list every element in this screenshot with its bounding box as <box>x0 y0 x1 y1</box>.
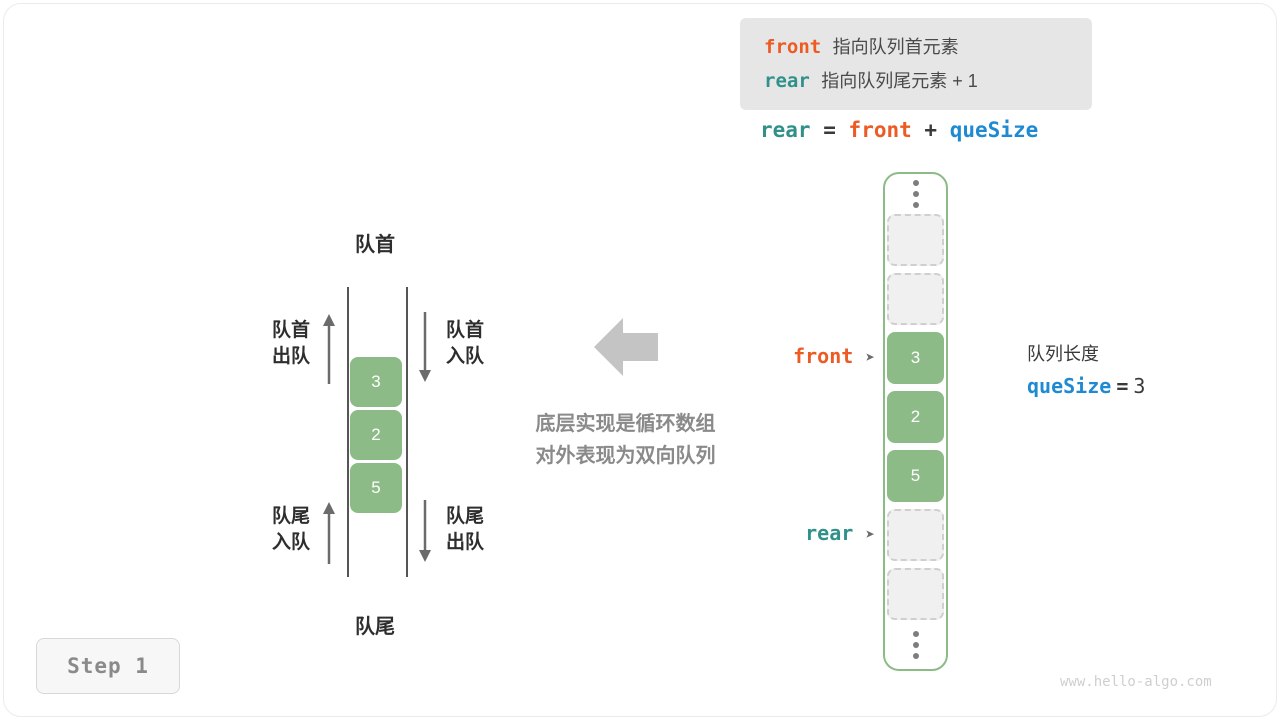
deque-rail-left <box>347 287 349 577</box>
deque-tail-enqueue-label: 队尾 入队 <box>250 504 310 556</box>
watermark: www.hello-algo.com <box>1060 674 1212 690</box>
legend-line-front: front 指向队列首元素 <box>764 30 1092 64</box>
deque-cell: 3 <box>350 357 402 407</box>
rear-pointer-label: rear <box>805 521 853 545</box>
legend-box: front 指向队列首元素 rear 指向队列尾元素 + 1 <box>740 18 1092 110</box>
front-pointer: front ➤ <box>700 344 875 368</box>
array-slot: 5 <box>887 450 944 502</box>
center-note-line1: 底层实现是循环数组 <box>498 408 753 440</box>
array-ellipsis-bottom-icon <box>905 631 927 659</box>
step-badge: Step 1 <box>36 638 180 694</box>
deque-head-label: 队首 <box>280 228 470 257</box>
deque-head-dequeue-arrow-up <box>320 312 338 384</box>
queue-size-expression: queSize = 3 <box>1027 370 1145 403</box>
queue-size-equals: = <box>1116 374 1128 398</box>
formula-rear: rear <box>760 118 811 142</box>
deque-head-enqueue-arrow-down <box>416 312 434 384</box>
deque-tail-dequeue-arrow-down <box>416 500 434 564</box>
deque-head-enqueue-line1: 队首 <box>446 318 484 344</box>
formula-rear-equals-front-plus-quesize: rear = front + queSize <box>760 118 1038 142</box>
array-slot <box>887 568 944 620</box>
legend-text-front: 指向队列首元素 <box>833 37 959 57</box>
deque-rail-right <box>406 287 408 577</box>
left-pointing-arrow-icon <box>594 318 658 376</box>
front-pointer-label: front <box>793 344 853 368</box>
formula-equals: = <box>823 118 836 142</box>
array-slot <box>887 273 944 325</box>
deque-tail-enqueue-line2: 入队 <box>250 530 310 556</box>
queue-size-value: 3 <box>1133 374 1145 398</box>
queue-size-title: 队列长度 <box>1027 338 1145 370</box>
array-slot: 2 <box>887 391 944 443</box>
deque-head-enqueue-line2: 入队 <box>446 344 484 370</box>
array-slot <box>887 214 944 266</box>
deque-head-dequeue-line1: 队首 <box>250 318 310 344</box>
deque-tail-dequeue-label: 队尾 出队 <box>446 504 484 556</box>
deque-tail-dequeue-line2: 出队 <box>446 530 484 556</box>
queue-size-note: 队列长度 queSize = 3 <box>1027 338 1145 403</box>
rear-pointer: rear ➤ <box>700 521 875 545</box>
deque-cell: 2 <box>350 410 402 460</box>
deque-tail-label: 队尾 <box>280 610 470 639</box>
array-slot <box>887 509 944 561</box>
diagram-canvas: front 指向队列首元素 rear 指向队列尾元素 + 1 rear = fr… <box>0 0 1280 720</box>
queue-size-var: queSize <box>1027 374 1111 398</box>
deque-cell: 5 <box>350 463 402 513</box>
deque-head-dequeue-line2: 出队 <box>250 344 310 370</box>
deque-head-dequeue-label: 队首 出队 <box>250 318 310 370</box>
formula-front: front <box>849 118 912 142</box>
legend-keyword-front: front <box>764 36 821 58</box>
legend-keyword-rear: rear <box>764 70 810 92</box>
deque-tail-enqueue-line1: 队尾 <box>250 504 310 530</box>
array-ellipsis-top-icon <box>905 180 927 208</box>
center-note: 底层实现是循环数组 对外表现为双向队列 <box>498 408 753 472</box>
formula-plus: + <box>924 118 937 142</box>
legend-line-rear: rear 指向队列尾元素 + 1 <box>764 64 1092 98</box>
center-note-line2: 对外表现为双向队列 <box>498 440 753 472</box>
legend-text-rear: 指向队列尾元素 + 1 <box>821 71 978 91</box>
front-pointer-arrow-icon: ➤ <box>865 348 875 367</box>
deque-head-enqueue-label: 队首 入队 <box>446 318 484 370</box>
deque-tail-enqueue-arrow-up <box>320 500 338 564</box>
array-slot: 3 <box>887 332 944 384</box>
deque-tail-dequeue-line1: 队尾 <box>446 504 484 530</box>
rear-pointer-arrow-icon: ➤ <box>865 525 875 544</box>
formula-quesize: queSize <box>950 118 1039 142</box>
